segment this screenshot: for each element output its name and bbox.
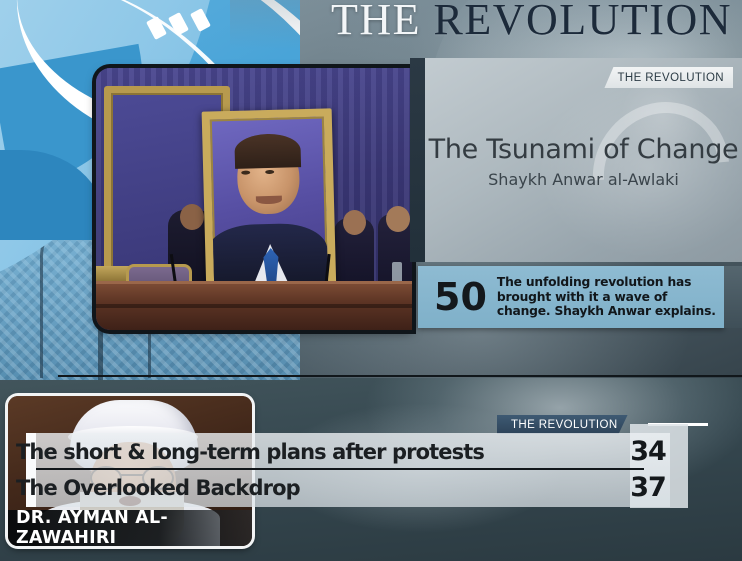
feature-section-tag-label: THE REVOLUTION xyxy=(617,72,724,84)
feature-summary-text: The unfolding revolution has brought wit… xyxy=(497,275,724,319)
photo-presidential-portrait xyxy=(202,108,337,295)
feature-panel-left-bar xyxy=(410,58,425,262)
feature-section-tag: THE REVOLUTION xyxy=(604,67,733,88)
photo-person-left-head xyxy=(180,204,204,230)
contents-section-tag-label: THE REVOLUTION xyxy=(511,419,618,431)
page-title: THE REVOLUTION xyxy=(0,0,742,44)
contents-section-tag: THE REVOLUTION xyxy=(497,415,628,434)
masthead-word-the: THE xyxy=(331,0,421,44)
person-photo-caption: DR. AYMAN AL-ZAWAHIRI xyxy=(8,510,252,546)
photo-wooden-desk xyxy=(96,281,412,330)
masthead-word-revolution: REVOLUTION xyxy=(433,0,732,44)
contents-row-1-page: 34 xyxy=(620,436,676,467)
feature-page-number: 50 xyxy=(418,278,497,316)
feature-article-author: Shaykh Anwar al-Awlaki xyxy=(425,170,742,189)
contents-row-2-page: 37 xyxy=(620,472,676,503)
feature-photo-portrait-removal xyxy=(96,68,412,330)
photo-desk-trim xyxy=(96,304,412,308)
feature-panel: THE REVOLUTION The Tsunami of Change Sha… xyxy=(425,58,742,262)
contents-row-2-title: The Overlooked Backdrop xyxy=(16,476,620,500)
feature-summary-strip: 50 The unfolding revolution has brought … xyxy=(418,266,724,328)
section-divider xyxy=(58,375,742,377)
photo-person-right-head xyxy=(343,210,366,235)
portrait-hair xyxy=(234,133,301,169)
feature-summary-strip-tail xyxy=(724,266,742,328)
contents-row-1-title: The short & long-term plans after protes… xyxy=(16,440,620,464)
feature-article-title: The Tsunami of Change xyxy=(425,134,742,165)
contents-row-1[interactable]: The short & long-term plans after protes… xyxy=(16,436,676,467)
person-photo-caption-label: DR. AYMAN AL-ZAWAHIRI xyxy=(16,508,252,546)
contents-row-divider xyxy=(36,468,644,470)
contents-row-2[interactable]: The Overlooked Backdrop 37 xyxy=(16,472,676,503)
magazine-contents-page: THE REVOLUTION xyxy=(0,0,742,561)
photo-person-far-right-head xyxy=(386,206,410,232)
